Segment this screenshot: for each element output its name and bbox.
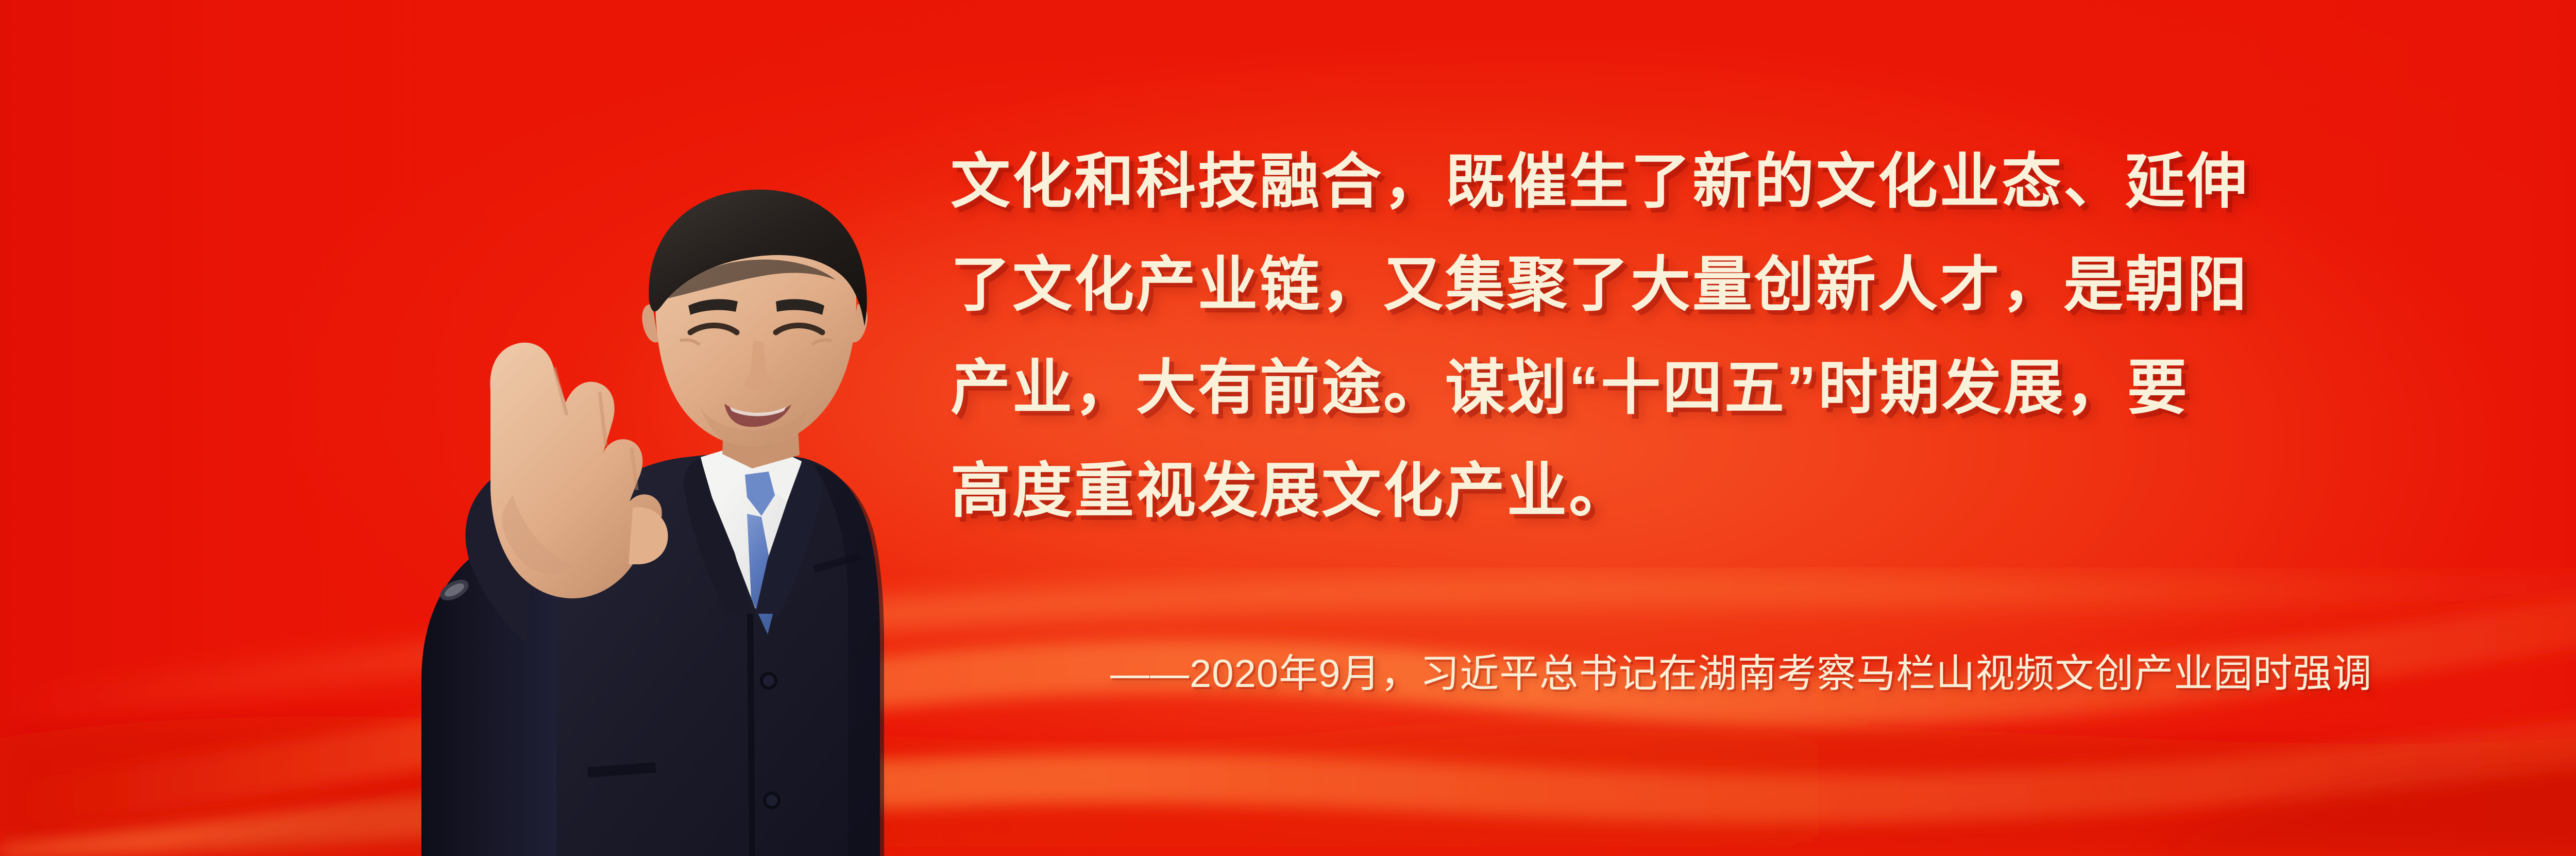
official-portrait-cutout	[289, 135, 896, 856]
quote-line-2: 了文化产业链，又集聚了大量创新人才，是朝阳	[951, 233, 2445, 336]
quote-banner: 文化和科技融合，既催生了新的文化业态、延伸 了文化产业链，又集聚了大量创新人才，…	[0, 0, 2576, 856]
quote-text-block: 文化和科技融合，既催生了新的文化业态、延伸 了文化产业链，又集聚了大量创新人才，…	[951, 130, 2445, 542]
quote-line-3: 产业，大有前途。谋划“十四五”时期发展，要	[951, 336, 2445, 439]
quote-attribution: ——2020年9月，习近平总书记在湖南考察马栏山视频文创产业园时强调	[1110, 648, 2372, 700]
quote-line-1: 文化和科技融合，既催生了新的文化业态、延伸	[951, 130, 2445, 233]
quote-line-4: 高度重视发展文化产业。	[951, 439, 2445, 542]
